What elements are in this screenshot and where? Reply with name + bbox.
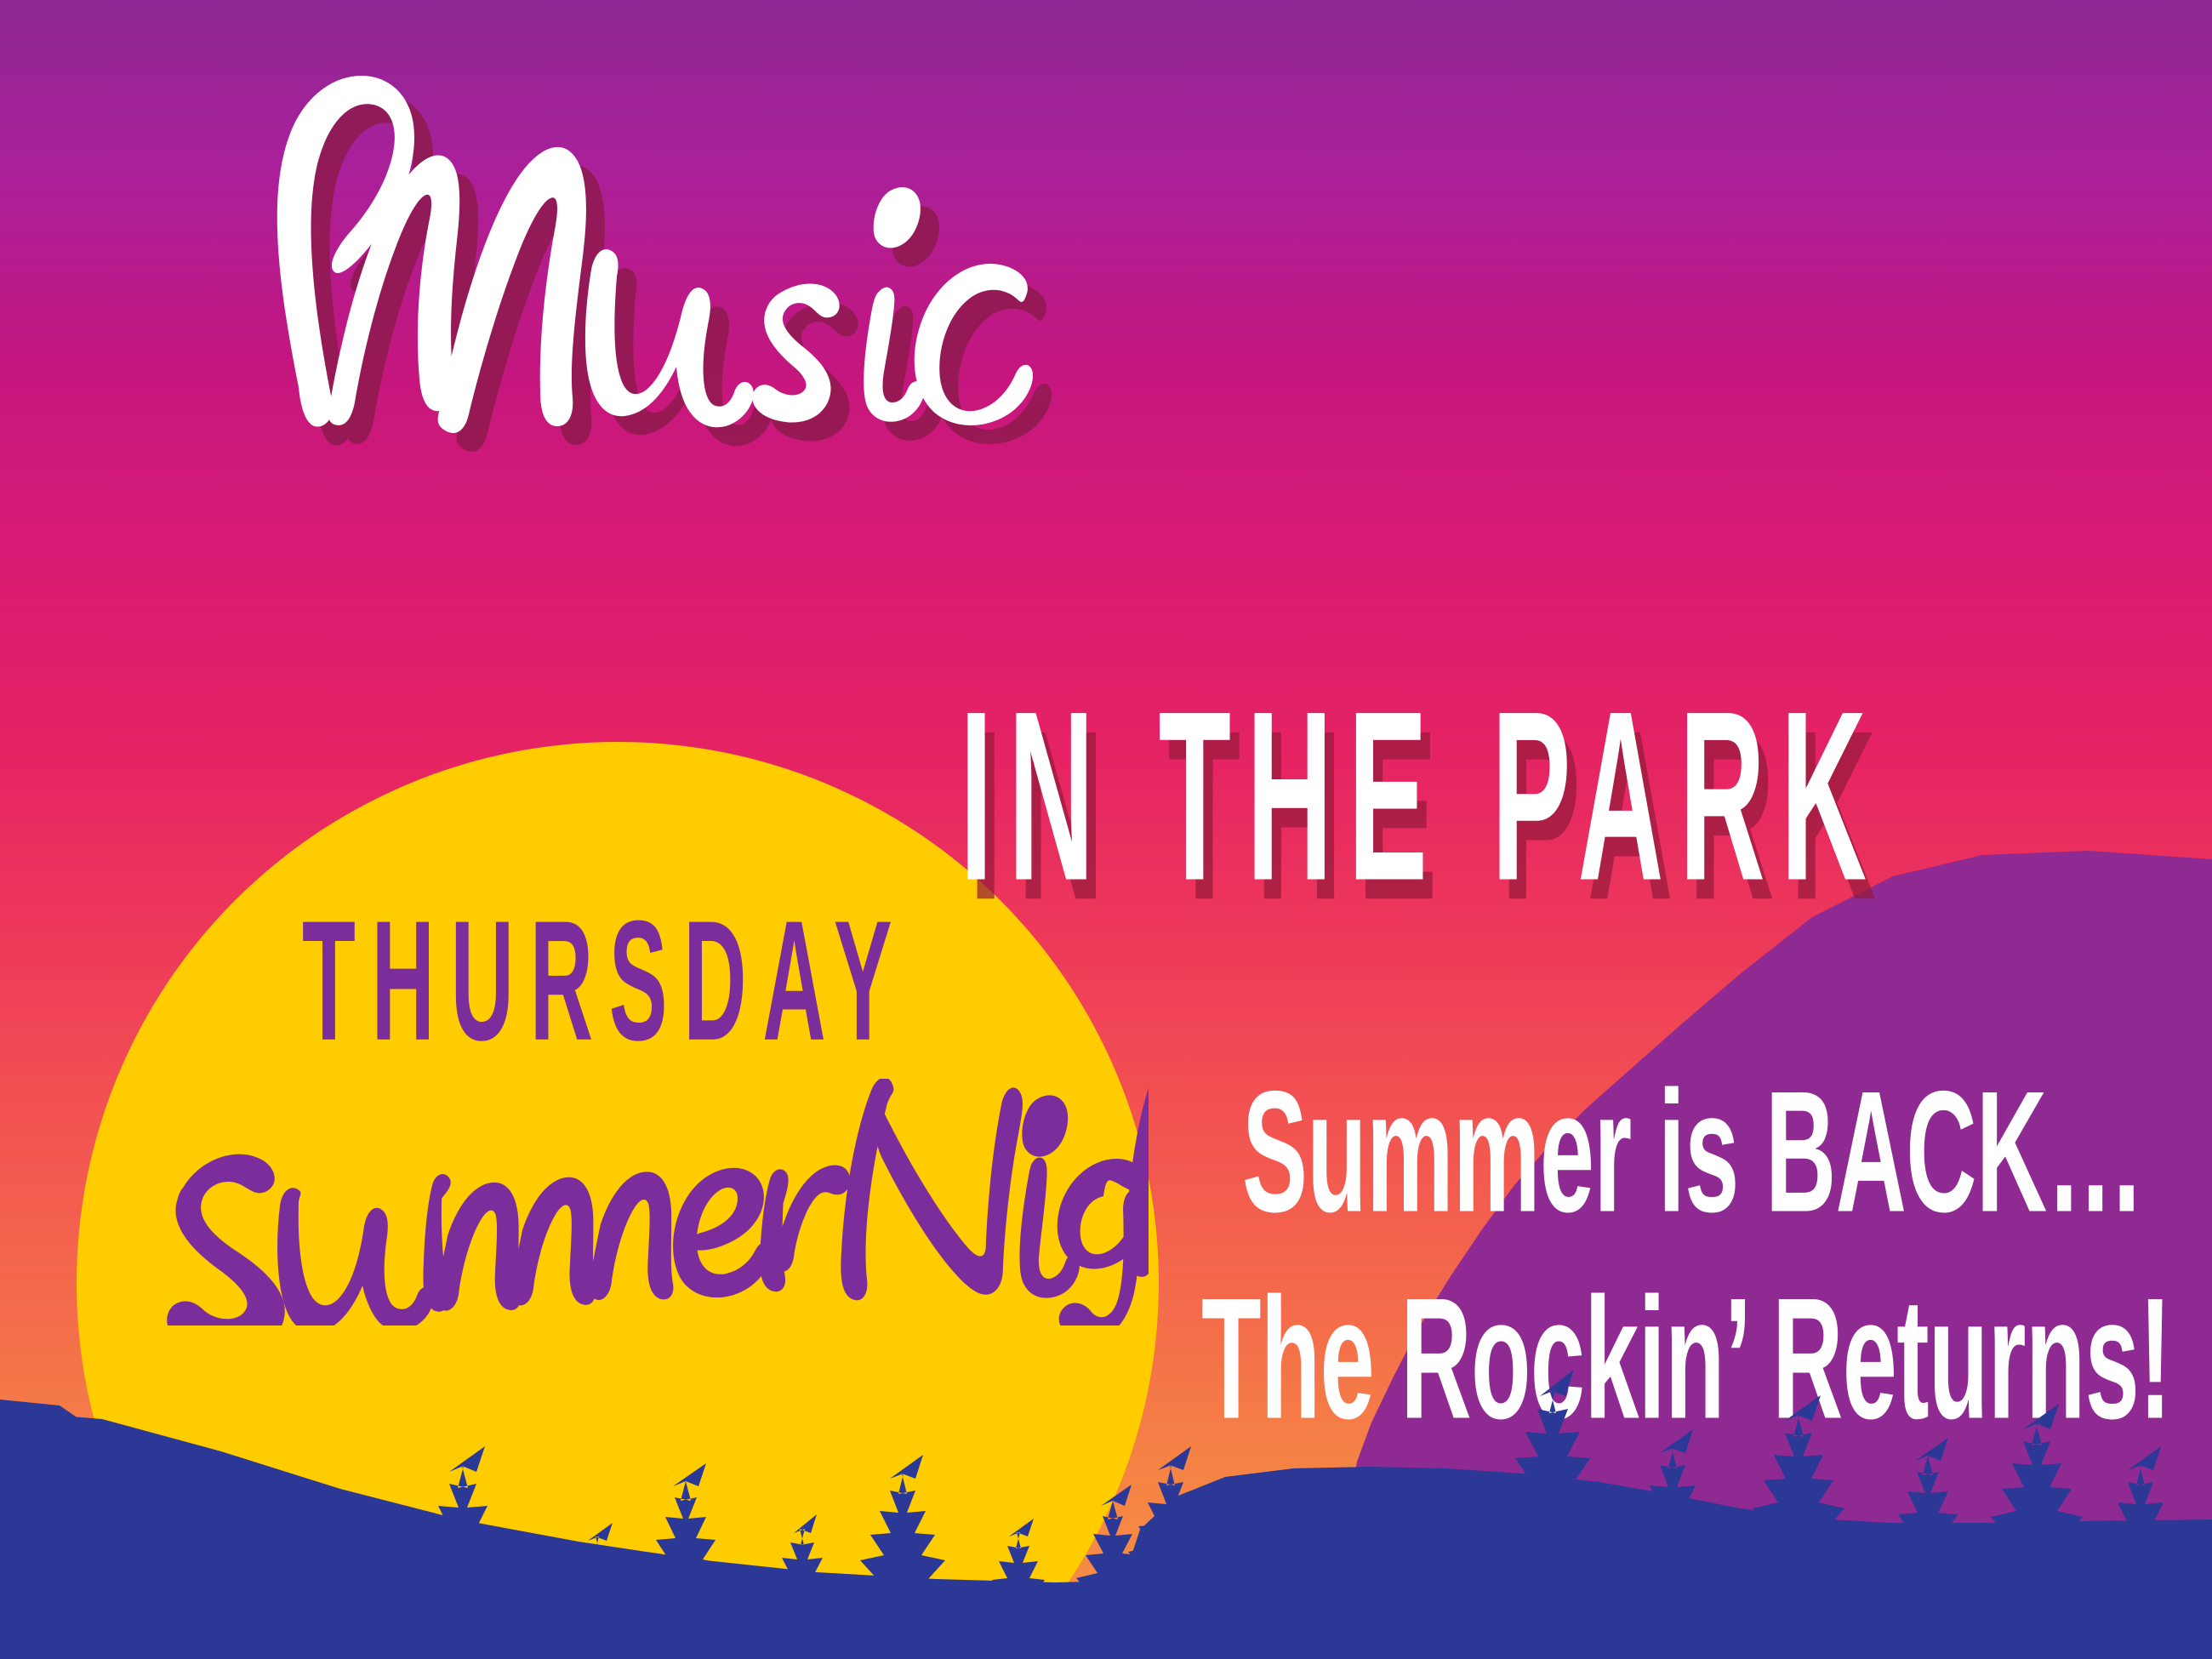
event-poster: IN THE PARK THURSDAY [0, 0, 2212, 1659]
left-hill-slope [0, 0, 2212, 1659]
